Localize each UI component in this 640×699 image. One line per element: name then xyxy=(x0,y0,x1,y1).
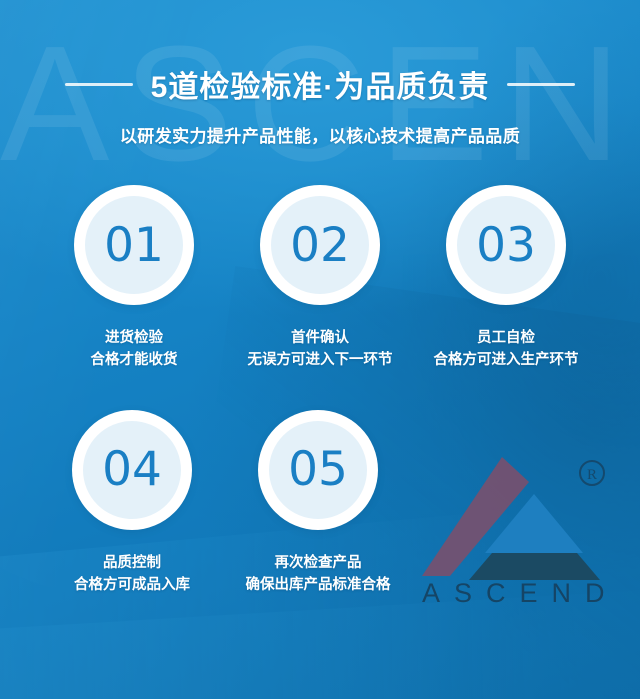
step-circle-inner-03: 03 xyxy=(457,196,555,294)
step-number-03: 03 xyxy=(476,222,536,269)
step-caption-line1-02: 首件确认 xyxy=(248,327,393,349)
step-item-05: 05 再次检查产品 确保出库产品标准合格 xyxy=(258,410,378,597)
step-circle-inner-05: 05 xyxy=(269,421,367,519)
steps-row-top: 01 进货检验 合格才能收货 02 首件确认 无误方可进入下一环节 xyxy=(0,185,640,372)
step-caption-line1-05: 再次检查产品 xyxy=(246,552,391,574)
step-circle-01: 01 xyxy=(74,185,194,305)
logo-navy-base xyxy=(469,553,600,580)
step-item-04: 04 品质控制 合格方可成品入库 xyxy=(72,410,192,597)
step-caption-05: 再次检查产品 确保出库产品标准合格 xyxy=(246,552,391,597)
registered-mark-icon: R xyxy=(580,461,604,485)
step-caption-01: 进货检验 合格才能收货 xyxy=(91,327,178,372)
page-subtitle: 以研发实力提升产品性能，以核心技术提高产品品质 xyxy=(0,122,640,147)
step-caption-line2-01: 合格才能收货 xyxy=(91,349,178,371)
page-title: 5道检验标准·为品质负责 xyxy=(151,62,490,106)
step-item-03: 03 员工自检 合格方可进入生产环节 xyxy=(446,185,566,372)
svg-text:R: R xyxy=(587,467,597,483)
logo-wordmark: ASCEND xyxy=(422,578,619,607)
step-caption-line1-03: 员工自检 xyxy=(434,327,579,349)
title-rule-right xyxy=(507,83,575,86)
step-number-01: 01 xyxy=(104,222,164,269)
step-caption-line2-02: 无误方可进入下一环节 xyxy=(248,349,393,371)
title-row: 5道检验标准·为品质负责 xyxy=(0,62,640,106)
step-caption-line2-03: 合格方可进入生产环节 xyxy=(434,349,579,371)
step-circle-02: 02 xyxy=(260,185,380,305)
step-number-02: 02 xyxy=(290,222,350,269)
step-caption-line2-04: 合格方可成品入库 xyxy=(74,574,190,596)
step-circle-inner-01: 01 xyxy=(85,196,183,294)
step-circle-inner-02: 02 xyxy=(271,196,369,294)
step-item-01: 01 进货检验 合格才能收货 xyxy=(74,185,194,372)
step-circle-03: 03 xyxy=(446,185,566,305)
step-circle-inner-04: 04 xyxy=(83,421,181,519)
step-number-05: 05 xyxy=(288,446,348,493)
title-rule-left xyxy=(65,83,133,86)
step-caption-line2-05: 确保出库产品标准合格 xyxy=(246,574,391,596)
step-caption-02: 首件确认 无误方可进入下一环节 xyxy=(248,327,393,372)
header: 5道检验标准·为品质负责 以研发实力提升产品性能，以核心技术提高产品品质 xyxy=(0,0,640,147)
poster-root: ASCEND 5道检验标准·为品质负责 以研发实力提升产品性能，以核心技术提高产… xyxy=(0,0,640,699)
step-number-04: 04 xyxy=(102,446,162,493)
step-caption-03: 员工自检 合格方可进入生产环节 xyxy=(434,327,579,372)
step-caption-line1-01: 进货检验 xyxy=(91,327,178,349)
step-caption-04: 品质控制 合格方可成品入库 xyxy=(74,552,190,597)
step-item-02: 02 首件确认 无误方可进入下一环节 xyxy=(260,185,380,372)
step-circle-04: 04 xyxy=(72,410,192,530)
ascend-logo: R ASCEND xyxy=(414,452,626,607)
step-caption-line1-04: 品质控制 xyxy=(74,552,190,574)
step-circle-05: 05 xyxy=(258,410,378,530)
